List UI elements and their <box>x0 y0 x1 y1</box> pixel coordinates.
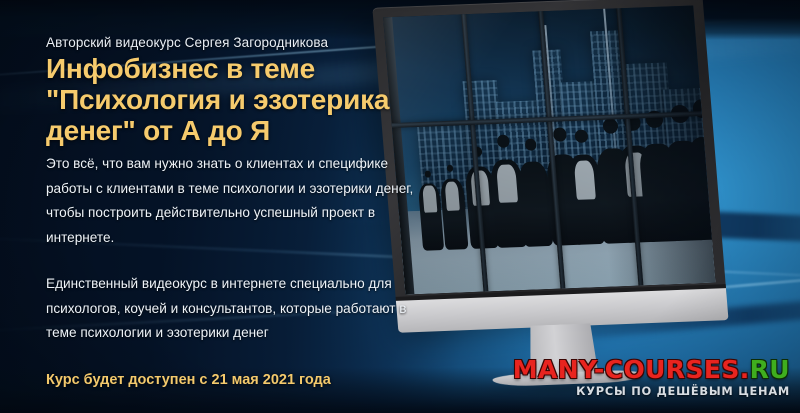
watermark-tagline: КУРСЫ ПО ДЕШЁВЫМ ЦЕНАМ <box>513 386 790 397</box>
promo-paragraph-2: Единственный видеокурс в интернете специ… <box>46 272 426 346</box>
watermark-brand-name: MANY-COURSES. <box>513 355 750 384</box>
promo-headline: Инфобизнес в теме "Психология и эзотерик… <box>46 53 426 146</box>
availability-note: Курс будет доступен с 21 мая 2021 года <box>46 370 426 390</box>
promo-copy-block: Авторский видеокурс Сергея Загородникова… <box>46 34 426 390</box>
watermark-brand-tld: RU <box>750 355 790 384</box>
promo-paragraph-1: Это всё, что вам нужно знать о клиентах … <box>46 152 426 250</box>
watermark-brand: MANY-COURSES.RU <box>513 357 790 382</box>
author-eyebrow: Авторский видеокурс Сергея Загородникова <box>46 34 426 51</box>
site-watermark: MANY-COURSES.RU КУРСЫ ПО ДЕШЁВЫМ ЦЕНАМ <box>513 357 790 397</box>
promo-banner: Авторский видеокурс Сергея Загородникова… <box>0 0 800 413</box>
